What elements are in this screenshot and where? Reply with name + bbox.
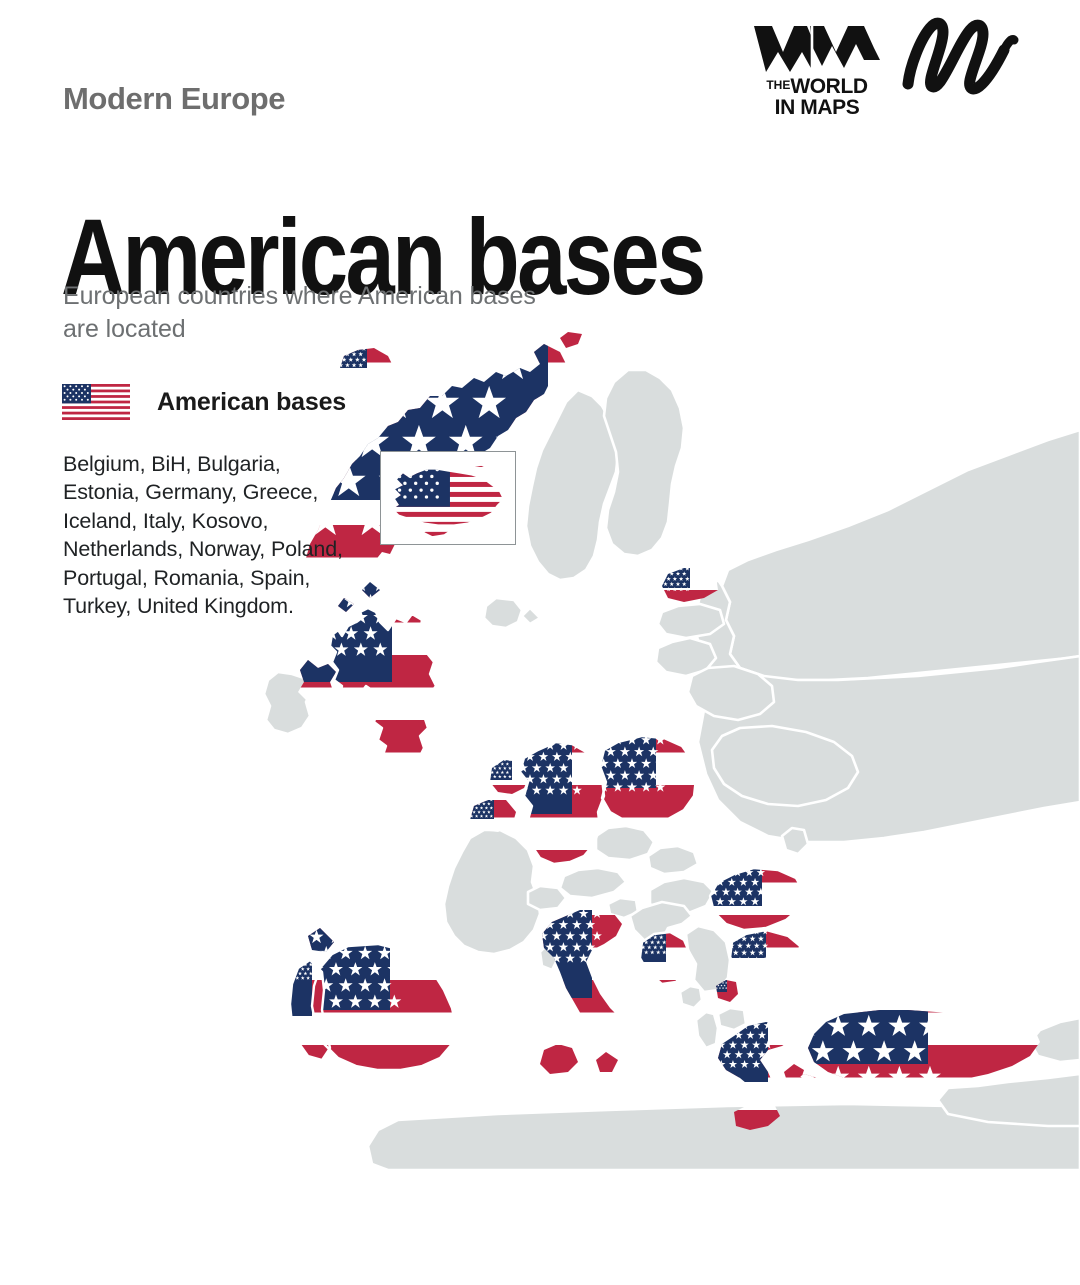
europe-map <box>248 330 1080 1170</box>
country-list: Belgium, BiH, Bulgaria, Estonia, Germany… <box>63 450 353 620</box>
script-m-monogram[interactable] <box>898 8 1020 100</box>
legend-label: American bases <box>157 388 346 417</box>
country-czechia <box>596 826 654 860</box>
logo-inmaps: IN MAPS <box>742 97 892 118</box>
page-subtitle: European countries where American bases … <box>63 280 563 345</box>
country-north-macedonia <box>718 1008 746 1030</box>
iceland-inset-map <box>381 452 515 544</box>
country-denmark <box>484 598 522 628</box>
brand-logo[interactable]: THEWORLD IN MAPS <box>742 22 892 119</box>
logo-the: THE <box>766 78 790 92</box>
legend: American bases <box>62 384 346 420</box>
logo-world: WORLD <box>790 75 867 98</box>
logo-wordmark: THEWORLD IN MAPS <box>742 76 892 119</box>
country-montenegro <box>680 986 702 1008</box>
eyebrow-label: Modern Europe <box>63 81 285 117</box>
infographic-canvas: Modern Europe American bases European co… <box>0 0 1080 1285</box>
iceland-inset-box <box>380 451 516 545</box>
us-flag-swatch <box>62 384 130 420</box>
wm-logo-icon <box>752 22 882 74</box>
